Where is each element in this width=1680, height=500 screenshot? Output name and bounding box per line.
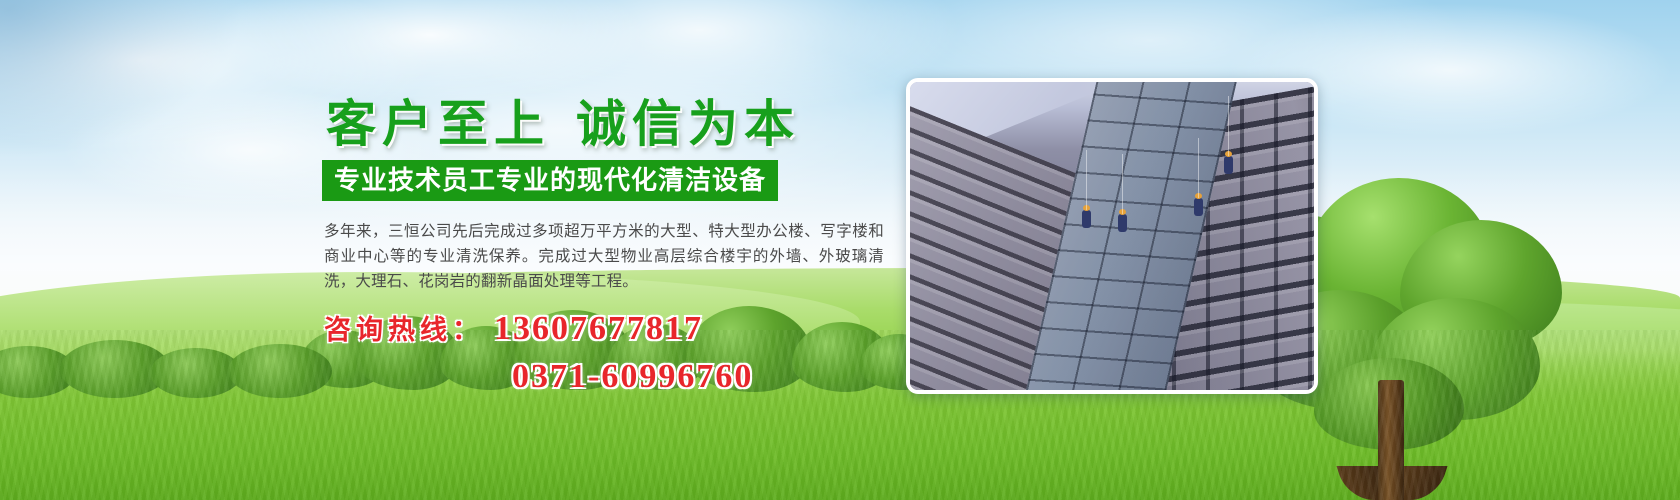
worker-icon (1224, 156, 1233, 174)
building-photo-frame (906, 78, 1318, 394)
hotline-landline-number[interactable]: 0371-60996760 (512, 358, 753, 395)
hotline-label: 咨询热线： (324, 315, 484, 345)
headline-part-2: 诚信为本 (576, 96, 800, 152)
description-text: 多年来，三恒公司先后完成过多项超万平方米的大型、特大型办公楼、写字楼和商业中心等… (324, 219, 884, 294)
banner-copy: 客户至上诚信为本 专业技术员工专业的现代化清洁设备 多年来，三恒公司先后完成过多… (322, 96, 902, 399)
worker-icon (1118, 214, 1127, 232)
tree-trunk (1378, 380, 1404, 500)
contact-row-mobile: 咨询热线：13607677817 (324, 308, 902, 351)
hotline-mobile-number[interactable]: 13607677817 (494, 310, 703, 347)
page-title: 客户至上诚信为本 (326, 96, 902, 154)
worker-icon (1082, 210, 1091, 228)
building-photo (910, 82, 1314, 390)
subtitle-bar: 专业技术员工专业的现代化清洁设备 (322, 160, 778, 201)
headline-part-1: 客户至上 (326, 96, 550, 152)
contact-block: 咨询热线：13607677817 0371-60996760 (324, 308, 902, 399)
promo-banner: 客户至上诚信为本 专业技术员工专业的现代化清洁设备 多年来，三恒公司先后完成过多… (0, 0, 1680, 500)
worker-icon (1194, 198, 1203, 216)
contact-row-landline: 0371-60996760 (324, 356, 902, 399)
